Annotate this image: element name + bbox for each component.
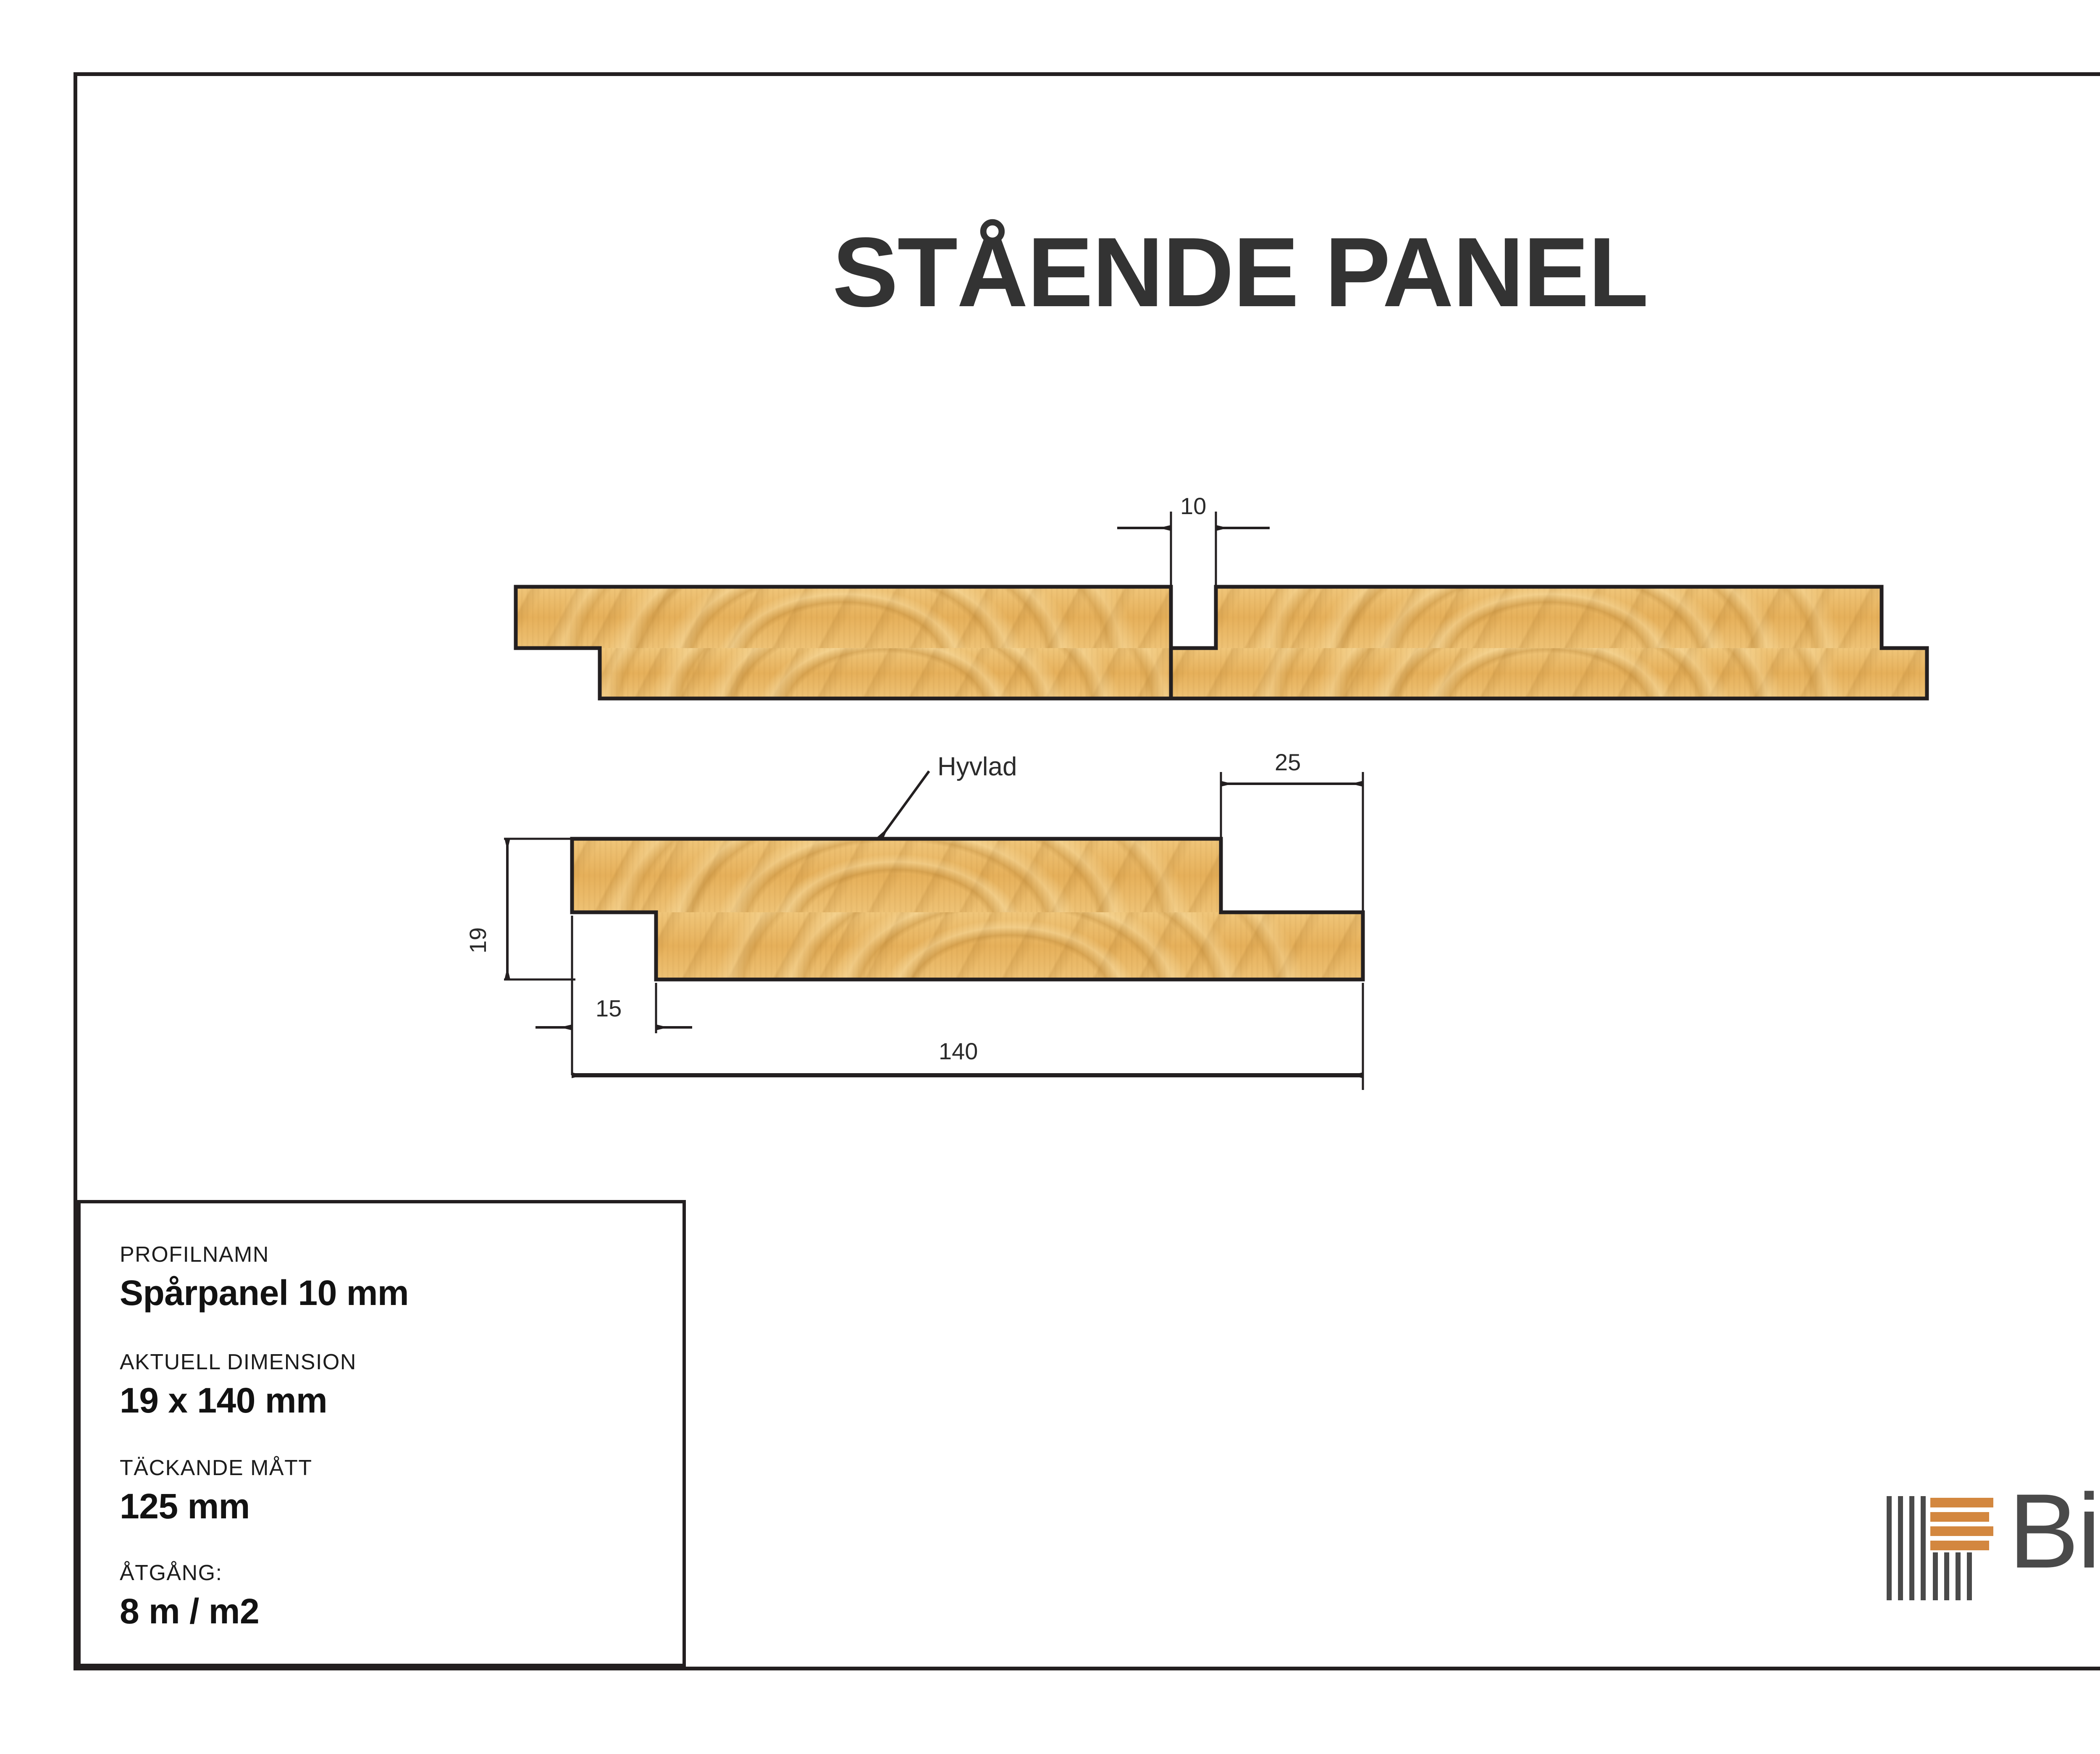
page-title: STÅENDE PANEL — [0, 223, 2100, 321]
info-field-profilnamn: PROFILNAMN Spårpanel 10 mm — [120, 1242, 409, 1313]
info-value-dimension: 19 x 140 mm — [120, 1380, 357, 1421]
bitus-logo: Bitus — [1887, 1478, 2100, 1604]
dim-label-19: 19 — [464, 927, 491, 953]
dim-label-140: 140 — [939, 1037, 978, 1065]
annotation-hyvlad: Hyvlad — [937, 752, 1017, 782]
profile-info-box: PROFILNAMN Spårpanel 10 mm AKTUELL DIMEN… — [77, 1200, 686, 1667]
info-label-profilnamn: PROFILNAMN — [120, 1242, 409, 1267]
dim-label-15: 15 — [596, 995, 622, 1022]
assembly-right-board-upper — [1216, 587, 1882, 648]
info-value-tackande: 125 mm — [120, 1486, 312, 1527]
info-field-atgang: ÅTGÅNG: 8 m / m2 — [120, 1560, 259, 1632]
info-label-tackande: TÄCKANDE MÅTT — [120, 1455, 312, 1481]
info-value-profilnamn: Spårpanel 10 mm — [120, 1273, 409, 1313]
dim-label-10: 10 — [1180, 492, 1206, 520]
profile-board-lower — [656, 912, 1363, 979]
info-label-atgang: ÅTGÅNG: — [120, 1560, 259, 1586]
info-label-dimension: AKTUELL DIMENSION — [120, 1350, 357, 1375]
profile-board-upper — [572, 839, 1221, 912]
bitus-logo-wordmark: Bitus — [2008, 1478, 2100, 1584]
dim-label-25: 25 — [1275, 748, 1301, 776]
assembly-left-board-lower — [600, 648, 1171, 698]
bitus-logo-mark-icon — [1887, 1496, 1995, 1600]
info-field-tackande: TÄCKANDE MÅTT 125 mm — [120, 1455, 312, 1527]
assembly-right-board-lower — [1171, 648, 1927, 698]
info-value-atgang: 8 m / m2 — [120, 1591, 259, 1632]
assembly-left-board-upper — [516, 587, 1171, 648]
info-field-dimension: AKTUELL DIMENSION 19 x 140 mm — [120, 1350, 357, 1421]
